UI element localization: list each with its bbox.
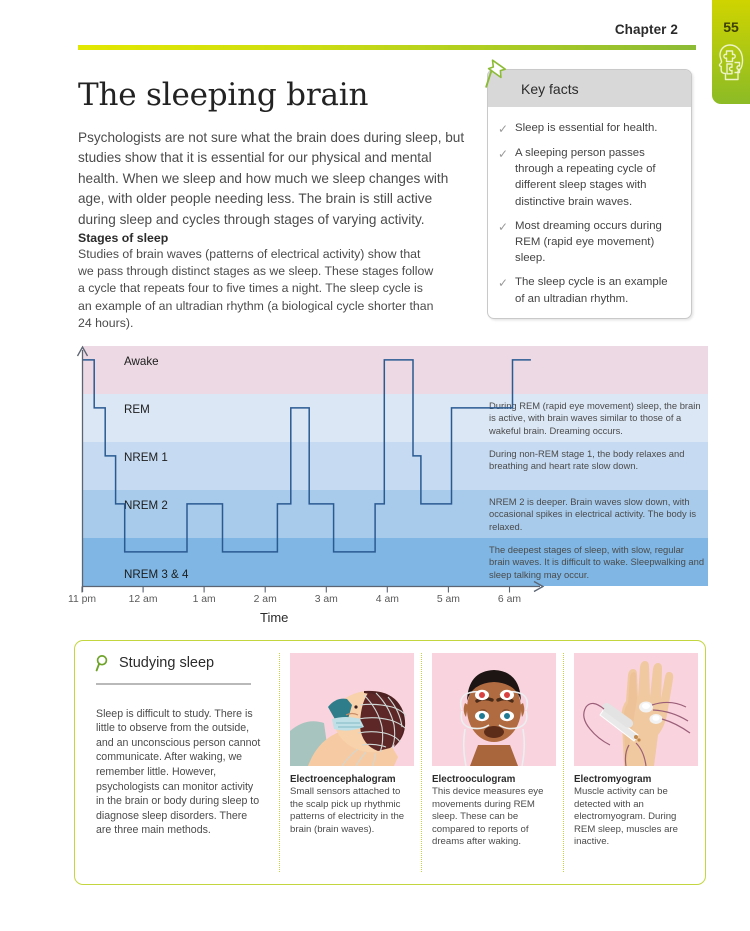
key-fact-text: The sleep cycle is an example of an ultr… bbox=[515, 274, 679, 306]
check-icon: ✓ bbox=[498, 145, 515, 210]
key-facts-title: Key facts bbox=[521, 81, 579, 97]
check-icon: ✓ bbox=[498, 120, 515, 137]
page-number: 55 bbox=[712, 19, 750, 35]
intro-paragraph: Psychologists are not sure what the brai… bbox=[78, 128, 468, 231]
method-name: Electroencephalogram bbox=[290, 774, 414, 785]
studying-sleep-title: Studying sleep bbox=[119, 655, 214, 671]
method-eog: Electrooculogram This device measures ey… bbox=[432, 653, 556, 849]
method-divider bbox=[563, 653, 564, 872]
method-name: Electromyogram bbox=[574, 774, 698, 785]
page-tab: 55 bbox=[712, 0, 750, 104]
key-fact-text: A sleeping person passes through a repea… bbox=[515, 145, 679, 210]
key-fact-item: ✓ A sleeping person passes through a rep… bbox=[498, 145, 679, 210]
key-fact-item: ✓ Most dreaming occurs during REM (rapid… bbox=[498, 218, 679, 267]
method-description: Muscle activity can be detected with an … bbox=[574, 786, 698, 849]
x-tick-label: 3 am bbox=[315, 594, 338, 605]
magnifier-icon bbox=[95, 654, 112, 672]
chart-axes bbox=[70, 340, 710, 600]
title-rule bbox=[78, 45, 696, 50]
hypnogram-chart: Awake REM NREM 1 NREM 2 NREM 3 & 4 Durin… bbox=[70, 340, 710, 630]
check-icon: ✓ bbox=[498, 274, 515, 306]
eog-electrodes-on-face-illustration bbox=[432, 653, 556, 766]
chapter-label: Chapter 2 bbox=[615, 22, 678, 37]
x-tick-label: 12 am bbox=[129, 594, 158, 605]
check-icon: ✓ bbox=[498, 218, 515, 267]
key-facts-panel: Key facts ✓ Sleep is essential for healt… bbox=[487, 69, 692, 319]
x-tick-label: 11 pm bbox=[68, 594, 96, 605]
head-puzzle-icon bbox=[717, 43, 745, 83]
x-tick-label: 6 am bbox=[498, 594, 521, 605]
x-tick-label: 4 am bbox=[376, 594, 399, 605]
method-description: This device measures eye movements durin… bbox=[432, 786, 556, 849]
x-axis-title: Time bbox=[260, 610, 288, 625]
eeg-cap-on-sleeping-person-illustration bbox=[290, 653, 414, 766]
x-tick-label: 2 am bbox=[254, 594, 277, 605]
emg-electrodes-on-hand-illustration bbox=[574, 653, 698, 766]
stages-body: Studies of brain waves (patterns of elec… bbox=[78, 246, 438, 332]
pushpin-icon bbox=[479, 58, 509, 92]
key-fact-item: ✓ Sleep is essential for health. bbox=[498, 120, 679, 137]
method-description: Small sensors attached to the scalp pick… bbox=[290, 786, 414, 836]
x-tick-label: 1 am bbox=[193, 594, 216, 605]
key-fact-item: ✓ The sleep cycle is an example of an ul… bbox=[498, 274, 679, 306]
studying-sleep-body: Sleep is difficult to study. There is li… bbox=[96, 707, 261, 838]
key-facts-list: ✓ Sleep is essential for health. ✓ A sle… bbox=[488, 107, 691, 307]
studying-sleep-divider bbox=[96, 683, 251, 685]
x-tick-label: 5 am bbox=[437, 594, 460, 605]
page-title: The sleeping brain bbox=[78, 77, 368, 113]
key-facts-header: Key facts bbox=[488, 70, 691, 107]
key-fact-text: Sleep is essential for health. bbox=[515, 120, 657, 137]
method-divider bbox=[421, 653, 422, 872]
stages-of-sleep-section: Stages of sleep Studies of brain waves (… bbox=[78, 231, 438, 332]
stages-heading: Stages of sleep bbox=[78, 231, 438, 245]
key-fact-text: Most dreaming occurs during REM (rapid e… bbox=[515, 218, 679, 267]
x-axis-tick-labels: 11 pm12 am1 am2 am3 am4 am5 am6 am bbox=[70, 594, 710, 610]
method-emg: Electromyogram Muscle activity can be de… bbox=[574, 653, 698, 849]
studying-sleep-panel: Studying sleep Sleep is difficult to stu… bbox=[74, 640, 706, 885]
method-name: Electrooculogram bbox=[432, 774, 556, 785]
studying-sleep-header: Studying sleep bbox=[95, 654, 214, 672]
method-eeg: Electroencephalogram Small sensors attac… bbox=[290, 653, 414, 836]
method-divider bbox=[279, 653, 280, 872]
